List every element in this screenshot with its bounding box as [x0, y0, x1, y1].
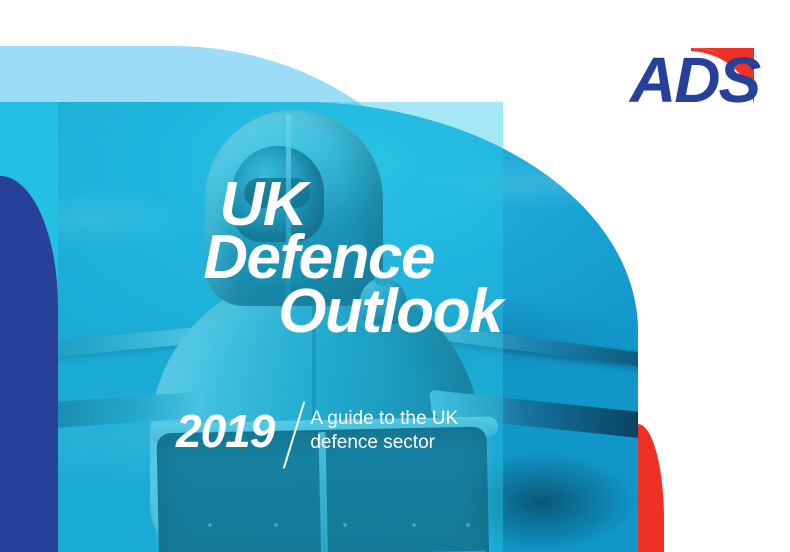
- red-accent-bar: [638, 424, 664, 552]
- publication-year: 2019: [176, 408, 274, 454]
- cyan-overlay-panel: [0, 102, 503, 552]
- report-cover: ADS UK Defence Outlook 2019 A guide to t…: [0, 0, 790, 552]
- tagline-line-1: A guide to the UK: [310, 408, 458, 429]
- ads-logo[interactable]: ADS: [624, 30, 764, 116]
- cover-tagline: A guide to the UK defence sector: [310, 407, 458, 455]
- tagline-line-2: defence sector: [310, 432, 435, 453]
- logo-wordmark: ADS: [628, 44, 761, 116]
- cover-subtitle: 2019 A guide to the UK defence sector: [176, 404, 458, 470]
- diagonal-divider: [274, 404, 310, 470]
